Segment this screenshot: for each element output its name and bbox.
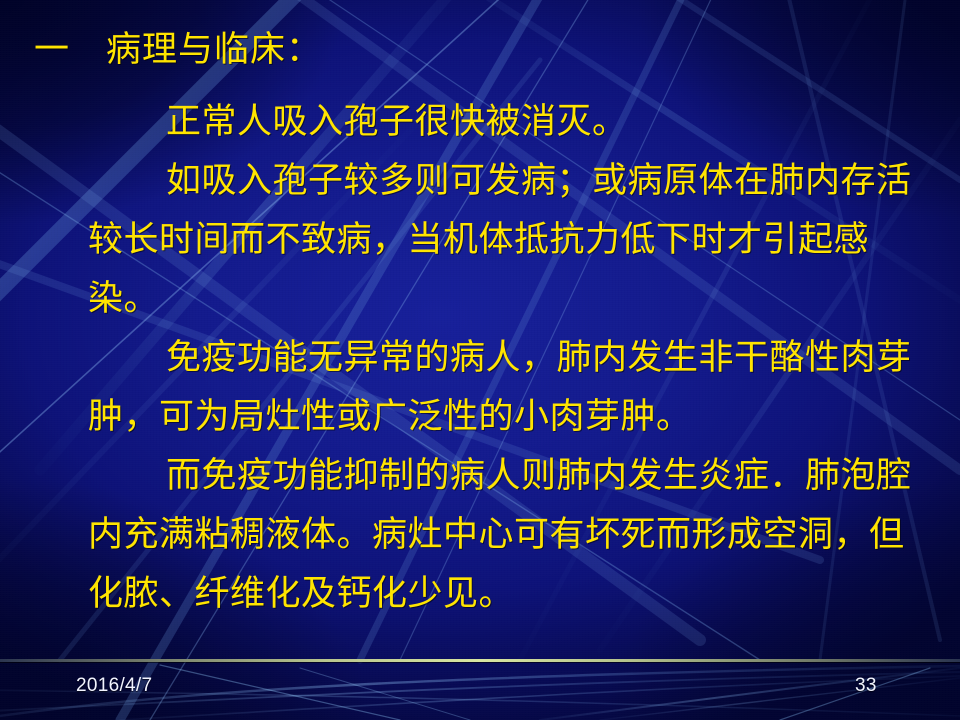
body-text-block: 正常人吸入孢子很快被消灭。 如吸入孢子较多则可发病；或病原体在肺内存活较长时间而… — [88, 92, 918, 623]
body-paragraph: 免疫功能无异常的病人，肺内发生非干酪性肉芽肿，可为局灶性或广泛性的小肉芽肿。 — [88, 328, 918, 446]
body-paragraph: 正常人吸入孢子很快被消灭。 — [88, 92, 918, 151]
slide-canvas: 一 病理与临床： 正常人吸入孢子很快被消灭。 如吸入孢子较多则可发病；或病原体在… — [0, 0, 960, 720]
footer-page-number: 33 — [855, 675, 877, 697]
footer-divider — [0, 659, 960, 662]
slide-content: 一 病理与临床： 正常人吸入孢子很快被消灭。 如吸入孢子较多则可发病；或病原体在… — [0, 0, 960, 720]
footer-date: 2016/4/7 — [76, 675, 152, 697]
page-title: 一 病理与临床： — [34, 32, 322, 69]
body-paragraph: 如吸入孢子较多则可发病；或病原体在肺内存活较长时间而不致病，当机体抵抗力低下时才… — [88, 151, 918, 328]
body-paragraph: 而免疫功能抑制的病人则肺内发生炎症．肺泡腔内充满粘稠液体。病灶中心可有坏死而形成… — [88, 446, 918, 623]
